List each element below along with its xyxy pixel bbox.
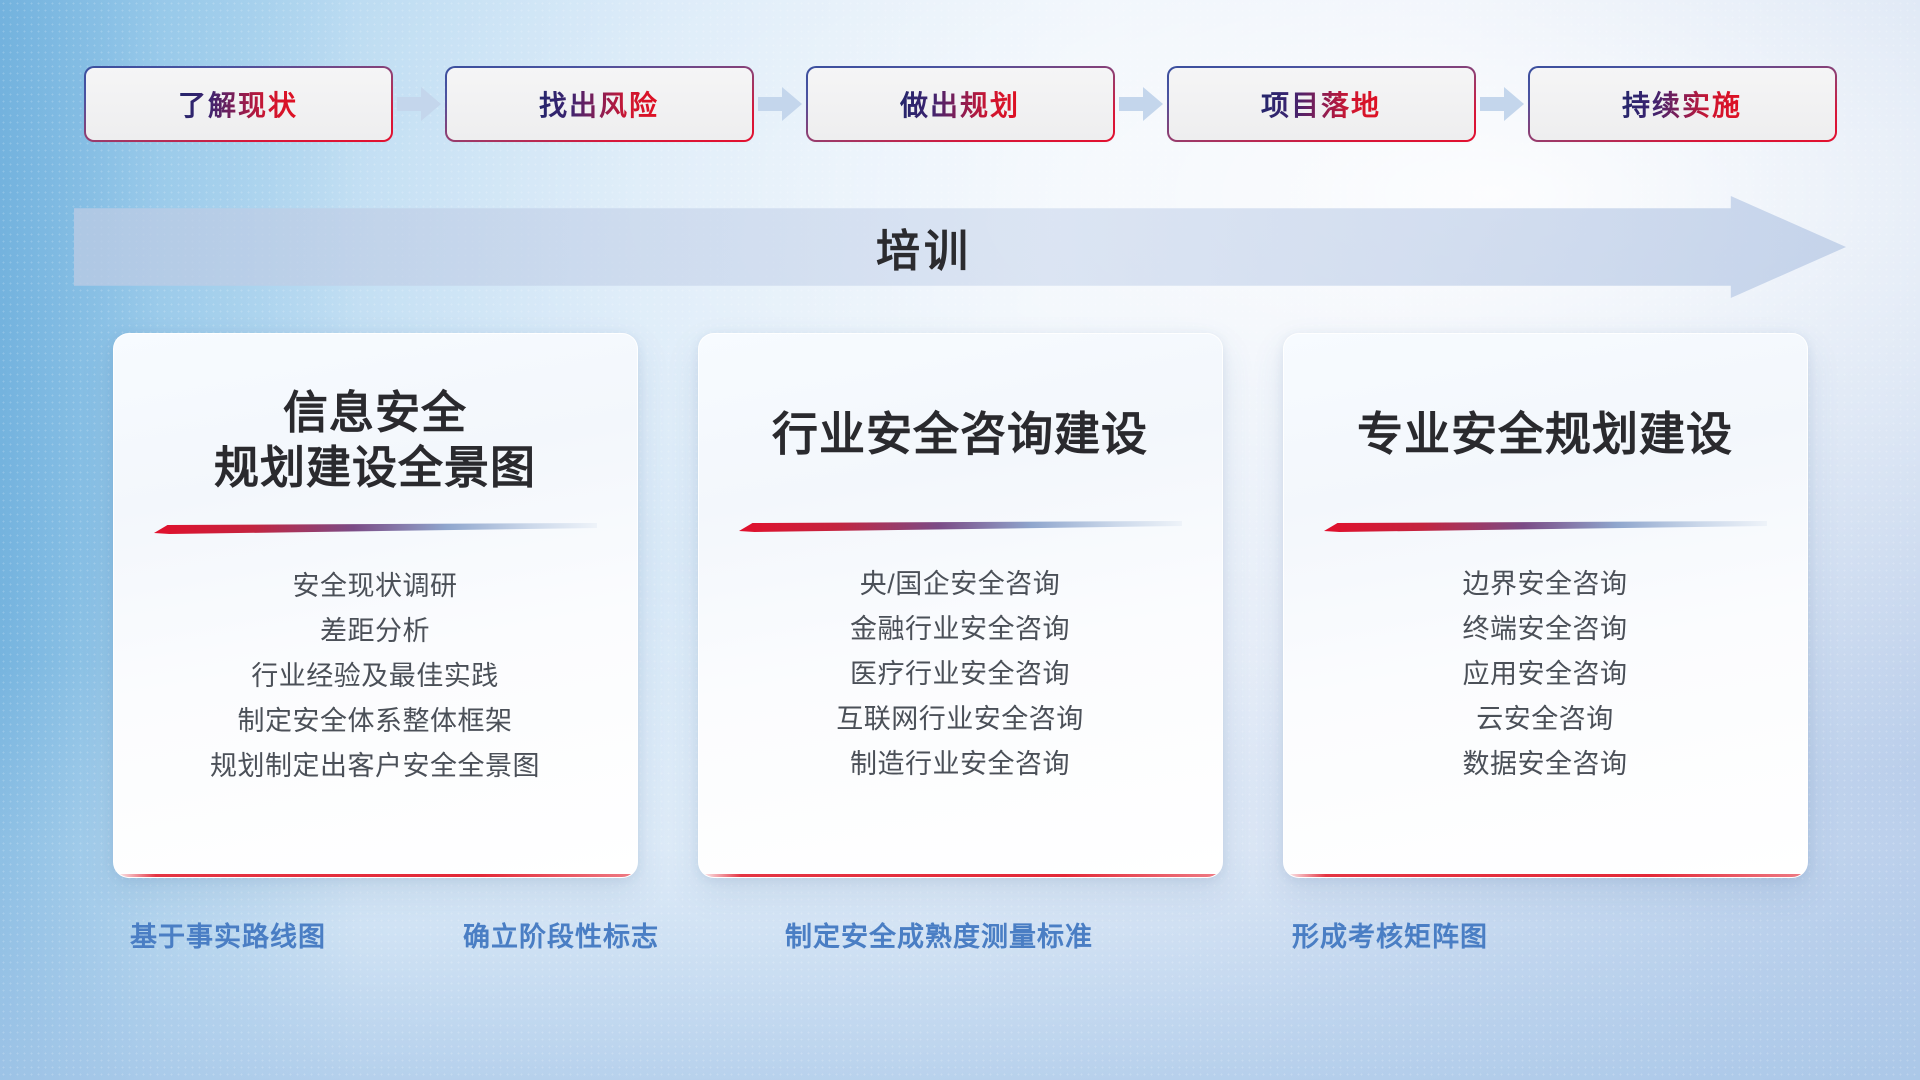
step-label: 项目落地 bbox=[1261, 84, 1381, 124]
step-arrow-icon-4 bbox=[1474, 62, 1530, 146]
card-information-security-blueprint[interactable]: 信息安全 规划建设全景图 安全现状调研 差距分析 行 bbox=[113, 333, 638, 878]
step-label: 做出规划 bbox=[900, 84, 1020, 124]
caption-assessment-matrix: 形成考核矩阵图 bbox=[1292, 915, 1488, 954]
card-item-list: 央/国企安全咨询 金融行业安全咨询 医疗行业安全咨询 互联网行业安全咨询 制造行… bbox=[733, 562, 1188, 787]
caption-maturity-scale: 制定安全成熟度测量标准 bbox=[785, 915, 1093, 954]
list-item: 制定安全体系整体框架 bbox=[148, 699, 603, 744]
step-arrow-icon-3 bbox=[1113, 62, 1169, 146]
step-box-1[interactable]: 了解现状 bbox=[86, 68, 391, 140]
list-item: 医疗行业安全咨询 bbox=[733, 652, 1188, 697]
step-label: 持续实施 bbox=[1622, 84, 1742, 124]
list-item: 制造行业安全咨询 bbox=[733, 742, 1188, 787]
card-title: 专业安全规划建设 bbox=[1318, 386, 1773, 462]
list-item: 互联网行业安全咨询 bbox=[733, 697, 1188, 742]
list-item: 行业经验及最佳实践 bbox=[148, 654, 603, 699]
list-item: 云安全咨询 bbox=[1318, 697, 1773, 742]
caption-milestones: 确立阶段性标志 bbox=[463, 915, 659, 954]
card-title: 信息安全 规划建设全景图 bbox=[148, 386, 603, 496]
card-divider-rule bbox=[154, 522, 597, 534]
step-box-5[interactable]: 持续实施 bbox=[1530, 68, 1835, 140]
banner-title: 培训 bbox=[74, 196, 1774, 298]
card-item-list: 安全现状调研 差距分析 行业经验及最佳实践 制定安全体系整体框架 规划制定出客户… bbox=[148, 564, 603, 789]
card-divider-rule bbox=[1324, 520, 1767, 532]
card-item-list: 边界安全咨询 终端安全咨询 应用安全咨询 云安全咨询 数据安全咨询 bbox=[1318, 562, 1773, 787]
step-arrow-icon-1 bbox=[391, 62, 447, 146]
list-item: 差距分析 bbox=[148, 609, 603, 654]
step-box-3[interactable]: 做出规划 bbox=[808, 68, 1113, 140]
step-box-2[interactable]: 找出风险 bbox=[447, 68, 752, 140]
card-title: 行业安全咨询建设 bbox=[733, 386, 1188, 462]
process-step-row: 了解现状 找出风险 做出规划 项目落地 持续实施 bbox=[0, 62, 1920, 146]
list-item: 央/国企安全咨询 bbox=[733, 562, 1188, 607]
step-arrow-icon-2 bbox=[752, 62, 808, 146]
step-label: 找出风险 bbox=[539, 84, 659, 124]
card-professional-security-planning[interactable]: 专业安全规划建设 边界安全咨询 终端安全咨询 应用安 bbox=[1283, 333, 1808, 878]
card-industry-security-consulting[interactable]: 行业安全咨询建设 央/国企安全咨询 金融行业安全咨询 bbox=[698, 333, 1223, 878]
step-box-4[interactable]: 项目落地 bbox=[1169, 68, 1474, 140]
caption-roadmap: 基于事实路线图 bbox=[130, 915, 326, 954]
list-item: 规划制定出客户安全全景图 bbox=[148, 744, 603, 789]
step-label: 了解现状 bbox=[178, 84, 298, 124]
card-divider-rule bbox=[739, 520, 1182, 532]
list-item: 安全现状调研 bbox=[148, 564, 603, 609]
list-item: 边界安全咨询 bbox=[1318, 562, 1773, 607]
list-item: 终端安全咨询 bbox=[1318, 607, 1773, 652]
list-item: 应用安全咨询 bbox=[1318, 652, 1773, 697]
list-item: 数据安全咨询 bbox=[1318, 742, 1773, 787]
list-item: 金融行业安全咨询 bbox=[733, 607, 1188, 652]
training-banner: 培训 bbox=[74, 196, 1846, 298]
card-row: 信息安全 规划建设全景图 安全现状调研 差距分析 行 bbox=[0, 333, 1920, 878]
caption-row: 基于事实路线图 确立阶段性标志 制定安全成熟度测量标准 形成考核矩阵图 bbox=[0, 915, 1920, 965]
